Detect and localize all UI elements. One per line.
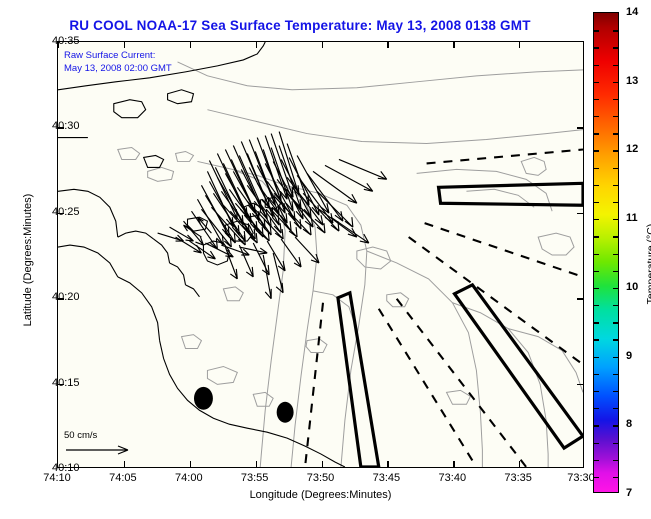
y-tick-label: 40:20: [52, 291, 80, 303]
x-tick-label: 73:30: [567, 472, 595, 484]
chart-title: RU COOL NOAA-17 Sea Surface Temperature:…: [0, 18, 600, 33]
plot-clip: [58, 42, 583, 467]
annotation-line-1: Raw Surface Current:: [64, 50, 172, 63]
annotation-line-2: May 13, 2008 02:00 GMT: [64, 63, 172, 76]
x-tick-label: 73:50: [307, 472, 335, 484]
x-tick-label: 73:35: [504, 472, 532, 484]
shipping-lane-group: [338, 183, 583, 467]
station-marker: [277, 402, 294, 423]
vector-scale-key: 50 cm/s: [64, 430, 136, 457]
x-tick-label: 73:40: [439, 472, 467, 484]
sst-contour-group: [118, 62, 583, 467]
x-tick-label: 73:55: [241, 472, 269, 484]
x-tick-label: 74:05: [109, 472, 137, 484]
x-tick-label: 74:00: [175, 472, 203, 484]
colorbar-tick-label: 12: [626, 143, 638, 155]
temperature-colorbar[interactable]: [593, 12, 619, 493]
station-marker-group: [194, 387, 294, 423]
x-axis-title: Longitude (Degrees:Minutes): [57, 489, 584, 501]
colorbar-title: Temperature (°C): [645, 179, 651, 349]
colorbar-tick-label: 11: [626, 212, 638, 224]
traffic-boundary-group: [305, 149, 583, 467]
station-marker: [194, 387, 213, 410]
plot-area[interactable]: Raw Surface Current: May 13, 2008 02:00 …: [57, 41, 584, 468]
vector-scale-label: 50 cm/s: [64, 430, 136, 441]
colorbar-tick-label: 8: [626, 418, 632, 430]
y-tick-label: 40:10: [52, 462, 80, 474]
y-tick-label: 40:15: [52, 377, 80, 389]
current-annotation: Raw Surface Current: May 13, 2008 02:00 …: [64, 50, 172, 75]
current-vector-group: [158, 132, 387, 299]
colorbar-tick-label: 14: [626, 6, 638, 18]
y-axis-title: Latitude (Degrees:Minutes): [22, 140, 34, 380]
colorbar-tick-label: 9: [626, 350, 632, 362]
colorbar-tick-label: 13: [626, 75, 638, 87]
x-tick-label: 73:45: [373, 472, 401, 484]
colorbar-tick-label: 7: [626, 487, 632, 499]
map-canvas: [58, 42, 583, 467]
y-tick-label: 40:25: [52, 206, 80, 218]
y-tick-label: 40:30: [52, 120, 80, 132]
sst-map-figure: RU COOL NOAA-17 Sea Surface Temperature:…: [0, 0, 651, 519]
vector-scale-arrow-icon: [64, 443, 136, 457]
colorbar-tick-label: 10: [626, 281, 638, 293]
y-tick-label: 40:35: [52, 35, 80, 47]
